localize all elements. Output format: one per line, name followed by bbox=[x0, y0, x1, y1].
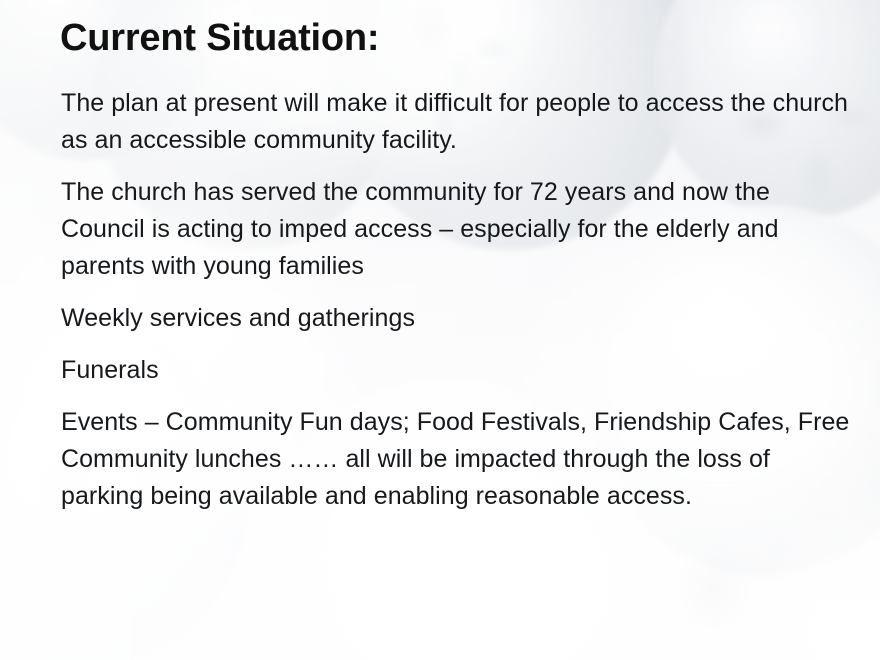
body-paragraph-2: The church has served the community for … bbox=[61, 174, 851, 285]
presentation-slide: Current Situation: The plan at present w… bbox=[0, 0, 880, 660]
body-paragraph-4: Funerals bbox=[61, 352, 851, 389]
body-paragraph-5: Events – Community Fun days; Food Festiv… bbox=[61, 404, 851, 515]
slide-title: Current Situation: bbox=[60, 17, 840, 61]
slide-body: The plan at present will make it difficu… bbox=[61, 85, 851, 515]
slide-content: Current Situation: The plan at present w… bbox=[0, 0, 880, 660]
body-paragraph-1: The plan at present will make it difficu… bbox=[61, 85, 851, 159]
body-paragraph-3: Weekly services and gatherings bbox=[61, 300, 851, 337]
